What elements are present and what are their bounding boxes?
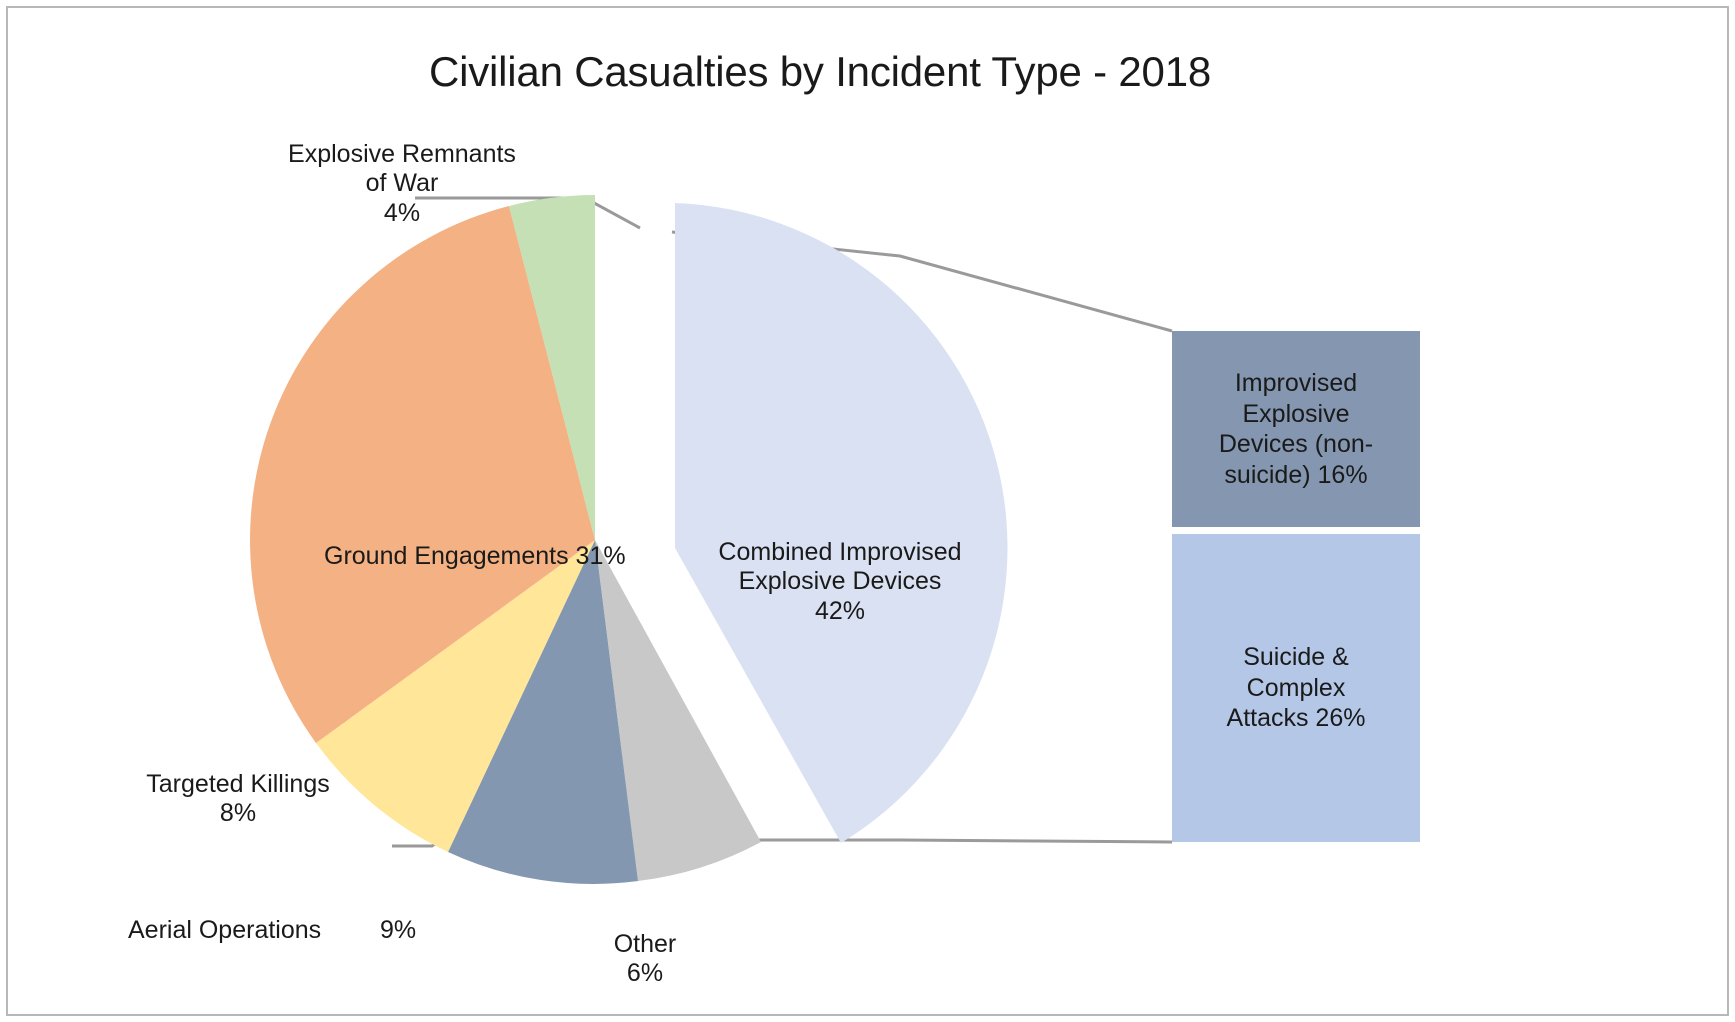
slice-label-other: Other 6%: [590, 930, 700, 989]
slice-label-targeted-killings: Targeted Killings 8%: [128, 770, 348, 829]
breakout-box-ied[interactable]: Improvised Explosive Devices (non- suici…: [1172, 331, 1420, 527]
slice-label-ground-engagements: Ground Engagements 31%: [324, 542, 654, 571]
slice-label-combined-ied: Combined Improvised Explosive Devices 42…: [690, 538, 990, 626]
pie-slice-combined-ied[interactable]: [675, 203, 1007, 843]
breakout-box-suicide[interactable]: Suicide & Complex Attacks 26%: [1172, 534, 1420, 842]
slice-label-explosive-remnants: Explosive Remnants of War 4%: [282, 140, 522, 228]
breakout-label-ied: Improvised Explosive Devices (non- suici…: [1186, 368, 1406, 490]
slice-value-aerial-operations: 9%: [380, 916, 440, 945]
breakout-label-suicide: Suicide & Complex Attacks 26%: [1186, 642, 1406, 734]
chart-page: Civilian Casualties by Incident Type - 2…: [0, 0, 1735, 1022]
pie-chart-graphic: [0, 0, 1735, 1022]
